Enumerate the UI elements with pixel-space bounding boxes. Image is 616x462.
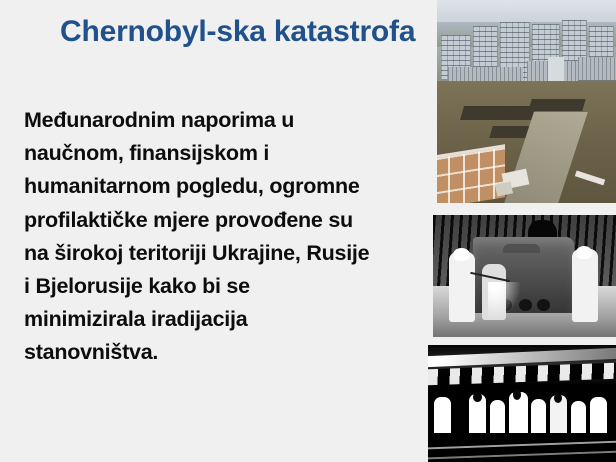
body-line: humanitarnom pogledu, ogromne xyxy=(24,170,428,203)
body-line: Međunarodnim naporima u xyxy=(24,104,428,137)
body-line: i Bjelorusije kako bi se xyxy=(24,270,428,303)
pripyat-aerial-photo xyxy=(437,0,616,203)
slide-text-column: Chernobyl-ska katastrofa Međunarodnim na… xyxy=(0,0,432,462)
photo-evacuee-figure xyxy=(434,397,451,437)
photo-evacuee-figure xyxy=(490,400,505,436)
photo-evacuee-figure xyxy=(531,399,546,436)
body-line: profilaktičke mjere provođene su xyxy=(24,204,428,237)
photo-evacuee-figure xyxy=(452,401,467,436)
body-line: na širokoj teritoriji Ukrajine, Rusije xyxy=(24,237,428,270)
photo-foreground-wall xyxy=(437,145,505,203)
slide-title: Chernobyl-ska katastrofa xyxy=(60,10,420,54)
photo-evacuee-head xyxy=(473,392,481,403)
photo-trench xyxy=(460,106,536,120)
photo-vehicle-turret xyxy=(503,244,539,253)
photo-evacuee-figure xyxy=(590,397,607,437)
photo-evacuee-head xyxy=(513,389,521,400)
photo-evacuee-figure xyxy=(571,401,586,436)
photo-low-building xyxy=(578,57,616,81)
body-line: stanovništva. xyxy=(24,336,428,369)
presentation-slide: Chernobyl-ska katastrofa Međunarodnim na… xyxy=(0,0,616,462)
photo-water-spray xyxy=(488,282,521,319)
photo-worker-figure xyxy=(449,252,475,323)
slide-body-text: Međunarodnim naporima u naučnom, finansi… xyxy=(24,104,428,370)
evacuation-train-photo xyxy=(428,345,616,462)
photo-vehicle-wheel xyxy=(537,299,550,311)
body-line: minimizirala iradijacija xyxy=(24,303,428,336)
photo-protective-hood xyxy=(453,248,469,261)
photo-worker-figure xyxy=(572,249,598,322)
liquidators-decontamination-photo xyxy=(433,215,616,337)
photo-trench xyxy=(528,99,585,111)
photo-protective-hood xyxy=(576,246,592,259)
body-line: naučnom, finansijskom i xyxy=(24,137,428,170)
